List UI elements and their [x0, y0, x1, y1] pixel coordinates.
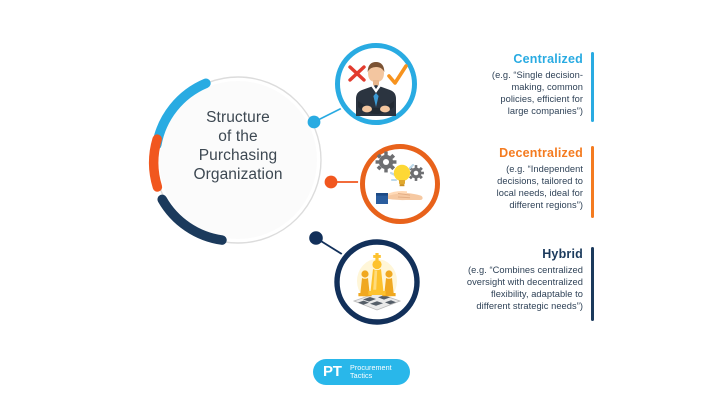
- hub-title-line-4: Organization: [156, 165, 320, 184]
- panel-title-hybrid: Hybrid: [437, 247, 583, 261]
- accent-bar-hybrid: [591, 247, 595, 321]
- panel-body-hybrid: (e.g. “Combines centralized oversight wi…: [437, 264, 583, 312]
- accent-bar-centralized: [591, 52, 595, 122]
- panel-body-centralized: (e.g. “Single decision- making, common p…: [452, 69, 583, 117]
- panel-body-decentralized: (e.g. “Independent decisions, tailored t…: [452, 163, 583, 211]
- panel-body-line: policies, efficient for: [452, 93, 583, 105]
- logo-wordmark: Procurement Tactics: [350, 364, 392, 381]
- hub-title-line-3: Purchasing: [156, 146, 320, 165]
- procurement-tactics-logo[interactable]: PT Procurement Tactics: [313, 359, 410, 385]
- panel-body-line: flexibility, adaptable to: [437, 288, 583, 300]
- icon-bubble-hybrid[interactable]: [332, 237, 422, 327]
- panel-body-line: (e.g. “Combines centralized: [437, 264, 583, 276]
- icon-bubble-centralized[interactable]: [333, 41, 419, 127]
- hand-lightbulb-gears-icon: [358, 142, 442, 226]
- panel-body-line: local needs, ideal for: [452, 187, 583, 199]
- panel-body-line: making, common: [452, 81, 583, 93]
- panel-decentralized: Decentralized (e.g. “Independent decisio…: [452, 146, 594, 211]
- infographic-canvas: Structure of the Purchasing Organization: [0, 0, 720, 404]
- logo-wordmark-line-2: Tactics: [350, 372, 392, 380]
- panel-title-decentralized: Decentralized: [452, 146, 583, 160]
- panel-body-line: large companies”): [452, 105, 583, 117]
- panel-body-line: (e.g. “Single decision-: [452, 69, 583, 81]
- panel-body-line: (e.g. “Independent: [452, 163, 583, 175]
- panel-centralized: Centralized (e.g. “Single decision- maki…: [452, 52, 594, 117]
- panel-body-line: decisions, tailored to: [452, 175, 583, 187]
- panel-title-centralized: Centralized: [452, 52, 583, 66]
- hub-title-line-2: of the: [156, 127, 320, 146]
- hub-title-line-1: Structure: [156, 108, 320, 127]
- panel-body-line: oversight with decentralized: [437, 276, 583, 288]
- panel-body-line: different regions”): [452, 199, 583, 211]
- hub-title: Structure of the Purchasing Organization: [156, 108, 320, 184]
- panel-hybrid: Hybrid (e.g. “Combines centralized overs…: [437, 247, 594, 312]
- icon-bubble-decentralized[interactable]: [358, 142, 442, 226]
- businessman-cross-check-icon: [333, 41, 419, 127]
- panel-body-line: different strategic needs”): [437, 300, 583, 312]
- central-hub: Structure of the Purchasing Organization: [128, 50, 348, 270]
- logo-initials: PT: [323, 364, 342, 380]
- chess-pieces-board-icon: [332, 237, 422, 327]
- accent-bar-decentralized: [591, 146, 595, 218]
